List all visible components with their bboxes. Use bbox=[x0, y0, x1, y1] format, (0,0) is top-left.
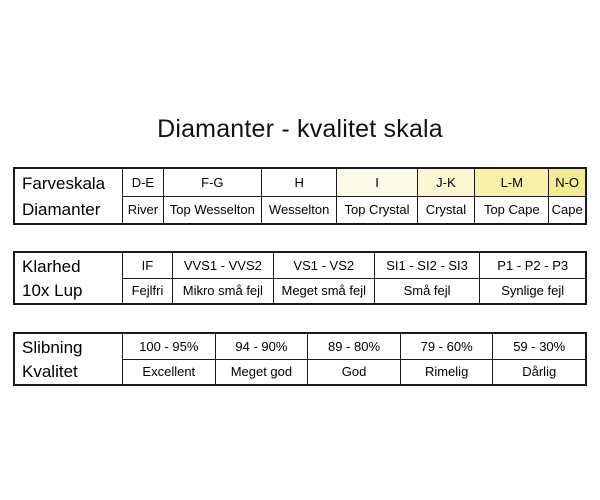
cut-scale-table: Slibning100 - 95%94 - 90%89 - 80%79 - 60… bbox=[13, 332, 587, 386]
color-scale-cell: J-K bbox=[417, 168, 475, 196]
color-scale-row-name: DiamanterRiverTop WesseltonWesseltonTop … bbox=[14, 196, 586, 224]
color-scale-cell: Wesselton bbox=[261, 196, 337, 224]
cut-scale-cell: 100 - 95% bbox=[123, 333, 216, 359]
cut-scale-cell: 59 - 30% bbox=[493, 333, 586, 359]
clarity-scale-table: KlarhedIFVVS1 - VVS2VS1 - VS2SI1 - SI2 -… bbox=[13, 251, 587, 305]
clarity-scale-cell: VVS1 - VVS2 bbox=[172, 252, 273, 278]
cut-scale-row-name: KvalitetExcellentMeget godGodRimeligDårl… bbox=[14, 359, 586, 385]
cut-scale-body: Slibning100 - 95%94 - 90%89 - 80%79 - 60… bbox=[14, 333, 586, 385]
clarity-scale-row-grade: KlarhedIFVVS1 - VVS2VS1 - VS2SI1 - SI2 -… bbox=[14, 252, 586, 278]
page-title: Diamanter - kvalitet skala bbox=[0, 113, 600, 145]
color-scale-cell: L-M bbox=[475, 168, 549, 196]
cut-scale-cell: Meget god bbox=[215, 359, 308, 385]
cut-scale-row-label: Kvalitet bbox=[14, 359, 123, 385]
color-scale-cell: H bbox=[261, 168, 337, 196]
color-scale-cell: Top Crystal bbox=[337, 196, 417, 224]
cut-scale-cell: 94 - 90% bbox=[215, 333, 308, 359]
clarity-scale-row-label: 10x Lup bbox=[14, 278, 123, 304]
clarity-scale-row-name: 10x LupFejlfriMikro små fejlMeget små fe… bbox=[14, 278, 586, 304]
color-scale-row-label: Diamanter bbox=[14, 196, 123, 224]
color-scale-cell: D-E bbox=[123, 168, 164, 196]
clarity-scale-cell: VS1 - VS2 bbox=[273, 252, 374, 278]
color-scale-cell: Cape bbox=[549, 196, 586, 224]
clarity-scale-cell: Mikro små fejl bbox=[172, 278, 273, 304]
color-scale-cell: Crystal bbox=[417, 196, 475, 224]
cut-scale-row-grade: Slibning100 - 95%94 - 90%89 - 80%79 - 60… bbox=[14, 333, 586, 359]
color-scale-body: FarveskalaD-EF-GHIJ-KL-MN-ODiamanterRive… bbox=[14, 168, 586, 224]
color-scale-cell: River bbox=[123, 196, 164, 224]
color-scale-row-label: Farveskala bbox=[14, 168, 123, 196]
color-scale-cell: I bbox=[337, 168, 417, 196]
clarity-scale-cell: Små fejl bbox=[374, 278, 480, 304]
cut-scale-cell: Excellent bbox=[123, 359, 216, 385]
cut-scale-row-label: Slibning bbox=[14, 333, 123, 359]
color-scale-row-grade: FarveskalaD-EF-GHIJ-KL-MN-O bbox=[14, 168, 586, 196]
clarity-scale-cell: Synlige fejl bbox=[480, 278, 586, 304]
color-scale-table: FarveskalaD-EF-GHIJ-KL-MN-ODiamanterRive… bbox=[13, 167, 587, 225]
cut-scale-cell: God bbox=[308, 359, 401, 385]
color-scale-cell: N-O bbox=[549, 168, 586, 196]
clarity-scale-cell: P1 - P2 - P3 bbox=[480, 252, 586, 278]
clarity-scale-body: KlarhedIFVVS1 - VVS2VS1 - VS2SI1 - SI2 -… bbox=[14, 252, 586, 304]
clarity-scale-cell: SI1 - SI2 - SI3 bbox=[374, 252, 480, 278]
clarity-scale-cell: Meget små fejl bbox=[273, 278, 374, 304]
color-scale-cell: F-G bbox=[163, 168, 261, 196]
clarity-scale-row-label: Klarhed bbox=[14, 252, 123, 278]
cut-scale-cell: 89 - 80% bbox=[308, 333, 401, 359]
clarity-scale-cell: Fejlfri bbox=[123, 278, 173, 304]
cut-scale-cell: Rimelig bbox=[400, 359, 493, 385]
cut-scale-cell: 79 - 60% bbox=[400, 333, 493, 359]
color-scale-cell: Top Cape bbox=[475, 196, 549, 224]
diamond-quality-scale-page: Diamanter - kvalitet skala FarveskalaD-E… bbox=[0, 0, 600, 500]
clarity-scale-cell: IF bbox=[123, 252, 173, 278]
cut-scale-cell: Dårlig bbox=[493, 359, 586, 385]
color-scale-cell: Top Wesselton bbox=[163, 196, 261, 224]
